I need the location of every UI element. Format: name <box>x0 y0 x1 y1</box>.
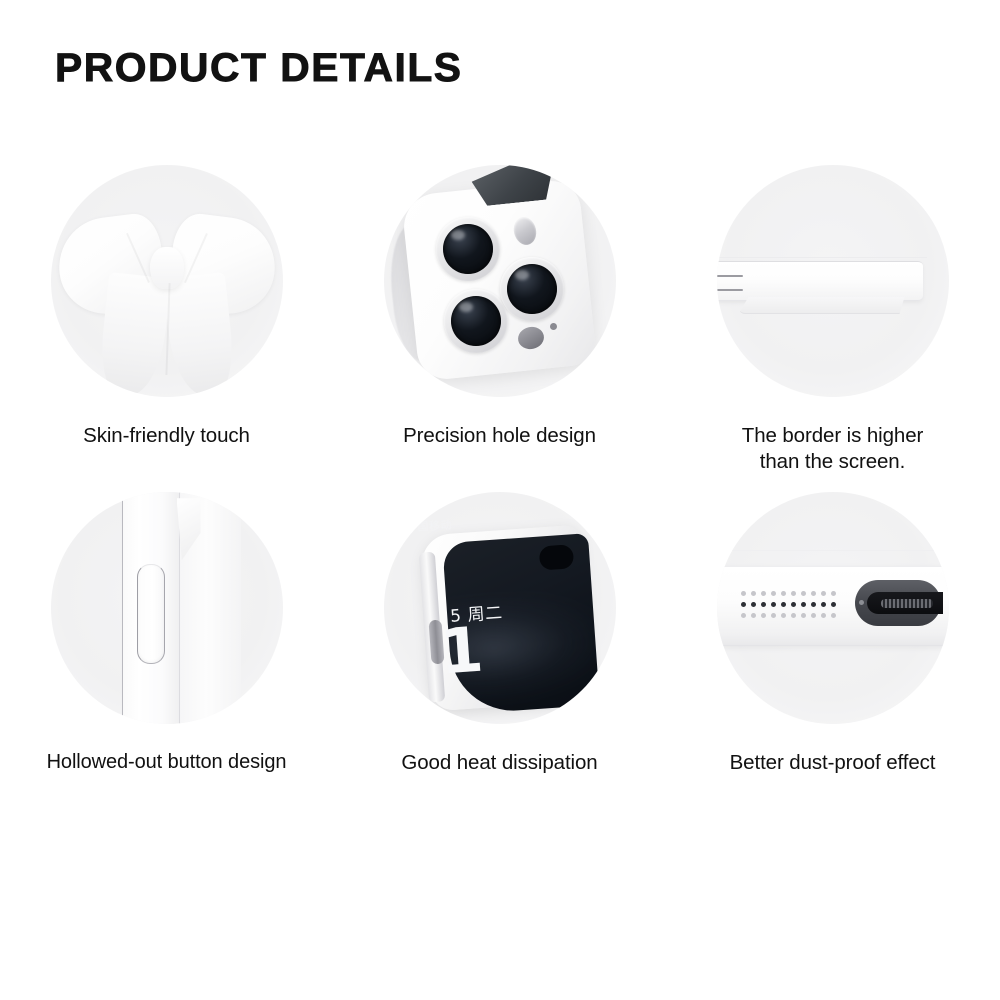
side-port-cutout <box>428 620 444 665</box>
grille-dot <box>791 591 796 596</box>
port-screw-hole <box>859 600 864 605</box>
grille-dot <box>781 591 786 596</box>
feature-caption-heat-dissipation: Good heat dissipation <box>401 750 597 776</box>
camera-lens-top-left <box>436 217 500 281</box>
feature-cell-hollowed-out-button: Hollowed-out button design <box>0 492 333 776</box>
feature-cell-dust-proof: Better dust-proof effect <box>666 492 999 776</box>
grille-dot <box>751 591 756 596</box>
dynamic-island-icon <box>538 544 574 570</box>
grille-dot <box>811 613 816 618</box>
grille-dot <box>811 602 816 607</box>
feature-image-raised-border <box>717 165 949 397</box>
grille-dot <box>741 613 746 618</box>
lens-glint <box>459 302 473 312</box>
case-edge-slab <box>717 261 923 301</box>
feature-caption-raised-border: The border is higher than the screen. <box>742 423 923 474</box>
camera-lens-right <box>500 257 564 321</box>
feature-grid: Skin-friendly touch <box>0 165 1000 776</box>
grille-dot <box>791 613 796 618</box>
button-cutout-opening <box>137 564 165 664</box>
feature-caption-hollowed-out-button: Hollowed-out button design <box>47 750 287 775</box>
case-raised-lip <box>739 297 905 314</box>
grille-dot <box>751 602 756 607</box>
charging-port-cutout <box>855 580 941 626</box>
grille-dot <box>761 591 766 596</box>
bow-tail-right <box>162 272 236 397</box>
lockscreen-carrier-label: 中国移动 <box>405 517 452 536</box>
phone-corner-lockscreen-photo: 中国移动 5 周二 1 <box>384 492 616 724</box>
feature-caption-dust-proof: Better dust-proof effect <box>730 750 936 776</box>
grille-dot <box>821 591 826 596</box>
grille-dot <box>811 591 816 596</box>
edge-tick-line <box>717 289 743 291</box>
feature-cell-heat-dissipation: 中国移动 5 周二 1 Good heat dissipation <box>333 492 666 776</box>
bow-knot <box>150 247 184 289</box>
case-side-button-cutout-photo <box>51 492 283 724</box>
grille-dot <box>741 602 746 607</box>
grille-dot <box>801 602 806 607</box>
white-bow-ribbon-photo <box>51 165 283 397</box>
lockscreen-clock-digit: 1 <box>437 619 484 684</box>
speaker-grille-icon <box>739 588 839 621</box>
feature-row-2: Hollowed-out button design 中国移动 5 周二 1 <box>0 492 1000 776</box>
grille-dot <box>781 613 786 618</box>
feature-caption-precision-hole-design: Precision hole design <box>403 423 596 449</box>
grille-dot <box>801 613 806 618</box>
lens-glint <box>451 230 465 240</box>
edge-highlight-line <box>717 257 927 258</box>
grille-dot <box>821 602 826 607</box>
port-connector-pins <box>881 599 933 608</box>
grille-dot <box>801 591 806 596</box>
feature-image-heat-dissipation: 中国移动 5 周二 1 <box>384 492 616 724</box>
feature-row-1: Skin-friendly touch <box>0 165 1000 474</box>
grille-dot <box>791 602 796 607</box>
feature-image-skin-friendly-touch <box>51 165 283 397</box>
grille-dot <box>761 602 766 607</box>
grille-dot <box>831 591 836 596</box>
grille-dot <box>771 613 776 618</box>
bow-tail-left <box>96 272 170 397</box>
case-rail-edge-line <box>122 492 123 724</box>
grille-dot <box>831 602 836 607</box>
lens-glint <box>515 270 529 280</box>
edge-tick-line <box>717 275 743 277</box>
feature-image-dust-proof <box>717 492 949 724</box>
feature-image-precision-hole-design <box>384 165 616 397</box>
edge-highlight-line <box>717 550 949 551</box>
feature-cell-precision-hole-design: Precision hole design <box>333 165 666 474</box>
feature-cell-skin-friendly-touch: Skin-friendly touch <box>0 165 333 474</box>
feature-caption-skin-friendly-touch: Skin-friendly touch <box>83 423 250 449</box>
grille-dot <box>831 613 836 618</box>
grille-dot <box>741 591 746 596</box>
case-edge-profile-photo <box>717 165 949 397</box>
case-bottom-port-grille-photo <box>717 492 949 724</box>
grille-dot <box>761 613 766 618</box>
page-title: PRODUCT DETAILS <box>55 46 463 91</box>
grille-dot <box>771 602 776 607</box>
grille-dot <box>821 613 826 618</box>
phone-case-camera-module-photo <box>384 165 616 397</box>
grille-dot <box>781 602 786 607</box>
feature-cell-raised-border: The border is higher than the screen. <box>666 165 999 474</box>
grille-dot <box>751 613 756 618</box>
case-corner-body <box>400 178 596 382</box>
microphone-hole-icon <box>550 323 557 330</box>
feature-image-hollowed-out-button <box>51 492 283 724</box>
camera-lens-bottom-left <box>444 289 508 353</box>
grille-dot <box>771 591 776 596</box>
